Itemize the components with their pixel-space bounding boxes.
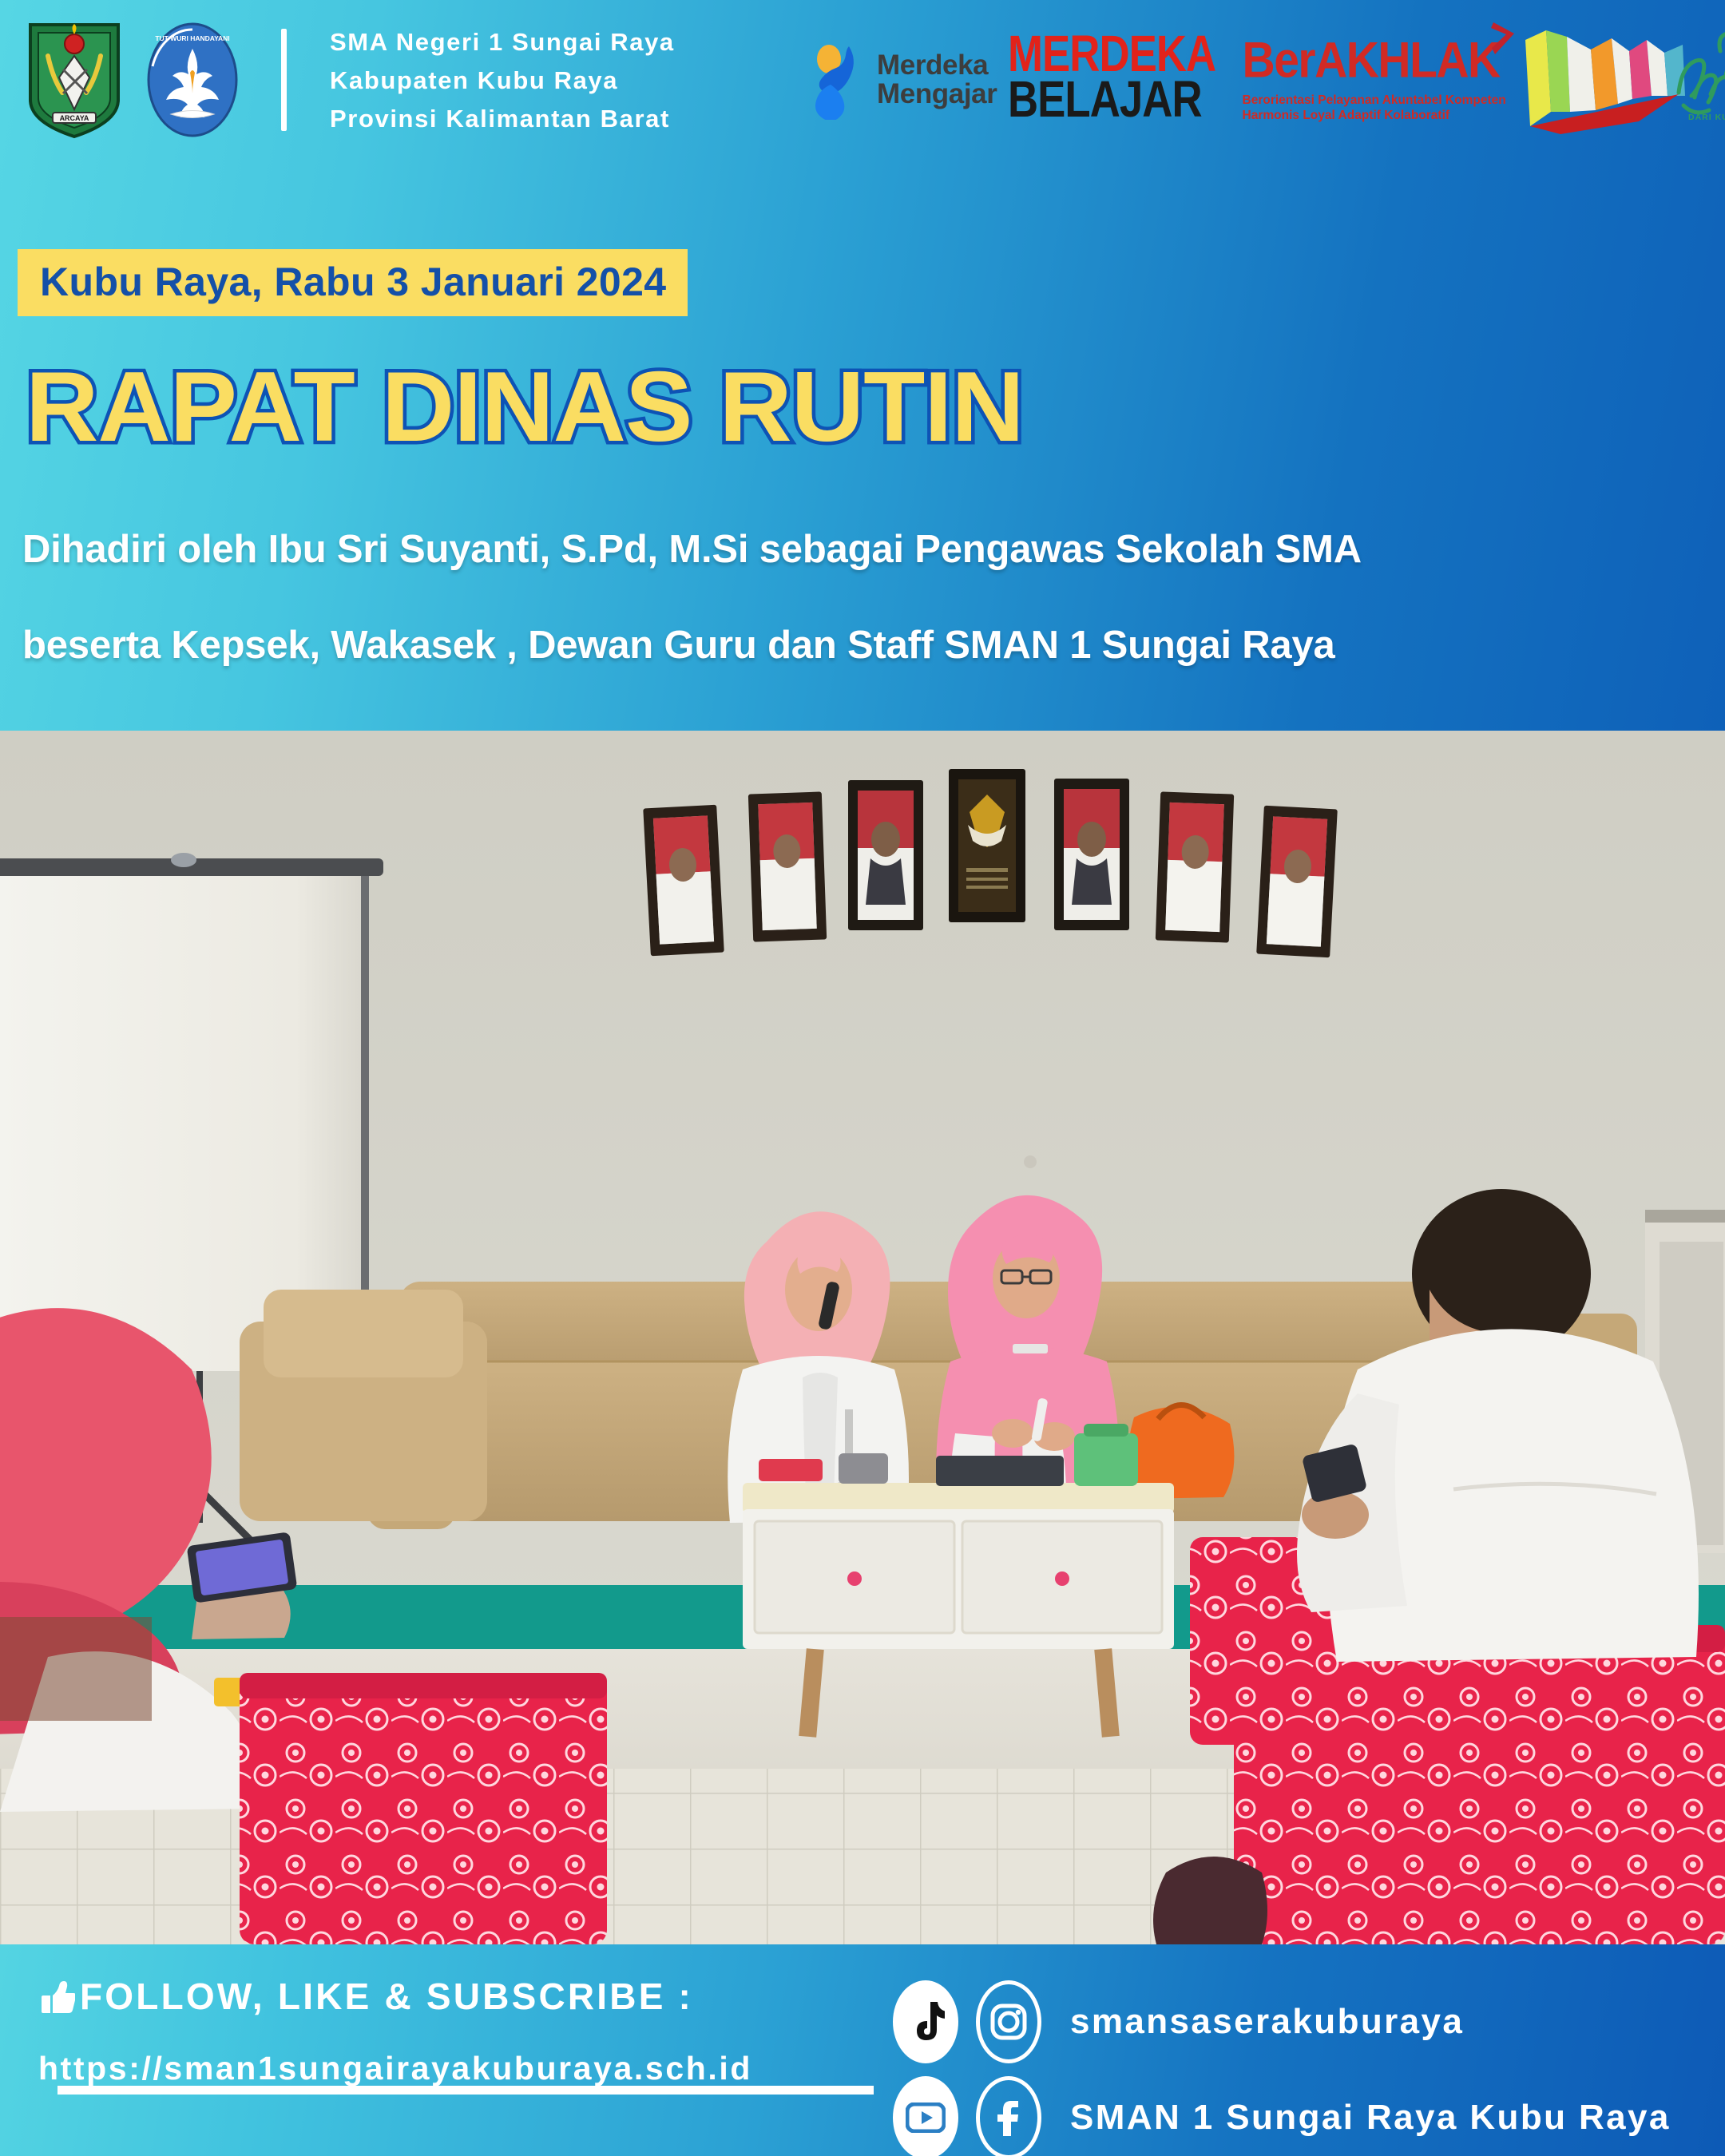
tiktok-icon	[906, 2000, 945, 2043]
crest-row: ARCAYA TUT WURI HANDAYANI SMA Negeri 1 S…	[0, 20, 675, 140]
subtitle-line-1: Dihadiri oleh Ibu Sri Suyanti, S.Pd, M.S…	[22, 527, 1362, 572]
tutwuri-motto-text: TUT WURI HANDAYANI	[155, 34, 229, 42]
subtitle-line-2: beserta Kepsek, Wakasek , Dewan Guru dan…	[22, 623, 1335, 668]
event-photo	[0, 731, 1725, 1944]
menanjak-mark-icon: DARI KUBU RAYA UNTUK INDONESIA	[1519, 16, 1725, 144]
program-logo-strip: Merdeka Mengajar MERDEKA BELAJAR BerAKHL…	[807, 0, 1725, 160]
berakhlak-wordmark: BerAKHLAK	[1243, 37, 1500, 89]
youtube-icon	[906, 2102, 946, 2133]
berakhlak-sub-line1: Berorientasi Pelayanan Akuntabel Kompete…	[1243, 93, 1506, 109]
merdeka-mengajar-icon	[807, 40, 869, 120]
merdeka-mengajar-line2: Mengajar	[877, 80, 997, 109]
crest-motto-text: ARCAYA	[60, 114, 89, 122]
school-line-3: Provinsi Kalimantan Barat	[330, 106, 675, 131]
poster-root: ARCAYA TUT WURI HANDAYANI SMA Negeri 1 S…	[0, 0, 1725, 2156]
social-row-2: SMAN 1 Sungai Raya Kubu Raya	[893, 2076, 1671, 2156]
merdeka-belajar-logo: MERDEKA BELAJAR	[1008, 38, 1224, 122]
footer-left-block: FOLLOW, LIKE & SUBSCRIBE : https://sman1…	[38, 1975, 752, 2087]
background-armchair	[240, 1290, 487, 1521]
berakhlak-logo: BerAKHLAK Berorientasi Pelayanan Akuntab…	[1243, 37, 1506, 124]
berakhlak-sub-line2: Harmonis Loyal Adaptif Kolaboratif	[1243, 109, 1506, 124]
social-handle-1: smansaserakuburaya	[1070, 2002, 1464, 2042]
lambang-kabupaten-kubu-raya-icon: ARCAYA	[24, 20, 125, 140]
menanjak-logo: DARI KUBU RAYA UNTUK INDONESIA	[1519, 16, 1725, 144]
header-divider	[281, 29, 287, 131]
menanjak-tagline: DARI KUBU RAYA UNTUK INDONESIA	[1688, 113, 1725, 122]
school-line-2: Kabupaten Kubu Raya	[330, 68, 675, 93]
website-url[interactable]: https://sman1sungairayakuburaya.sch.id	[38, 2050, 752, 2087]
follow-row: FOLLOW, LIKE & SUBSCRIBE :	[38, 1975, 752, 2018]
social-columns: smansaserakuburaya SMAN 1 Sungai Raya Ku…	[893, 1980, 1671, 2156]
instagram-icon	[990, 2003, 1027, 2040]
berakhlak-prefix: Ber	[1243, 31, 1315, 89]
logo-tut-wuri-handayani-icon: TUT WURI HANDAYANI	[142, 20, 243, 140]
batik-chair-left	[240, 1673, 607, 1944]
page-title: RAPAT DINAS RUTIN	[26, 358, 1024, 457]
school-line-1: SMA Negeri 1 Sungai Raya	[330, 30, 675, 54]
berakhlak-check-icon	[1490, 21, 1517, 57]
tiktok-badge[interactable]	[893, 1980, 958, 2063]
youtube-badge[interactable]	[893, 2076, 958, 2156]
date-chip-text: Kubu Raya, Rabu 3 Januari 2024	[40, 262, 667, 302]
event-photo-scene	[0, 731, 1725, 1944]
facebook-icon	[990, 2099, 1027, 2136]
berakhlak-subtitle: Berorientasi Pelayanan Akuntabel Kompete…	[1243, 93, 1506, 124]
school-identity-lines: SMA Negeri 1 Sungai Raya Kabupaten Kubu …	[330, 30, 675, 131]
date-chip: Kubu Raya, Rabu 3 Januari 2024	[18, 249, 688, 316]
instagram-badge[interactable]	[976, 1980, 1041, 2063]
facebook-badge[interactable]	[976, 2076, 1041, 2156]
poster-footer: FOLLOW, LIKE & SUBSCRIBE : https://sman1…	[0, 1944, 1725, 2156]
footer-underline	[57, 2086, 874, 2095]
poster-header: ARCAYA TUT WURI HANDAYANI SMA Negeri 1 S…	[0, 0, 1725, 160]
follow-text: FOLLOW, LIKE & SUBSCRIBE :	[80, 1975, 693, 2018]
merdeka-mengajar-line1: Merdeka	[877, 51, 997, 80]
merdeka-mengajar-logo: Merdeka Mengajar	[807, 40, 997, 120]
thumbs-up-icon	[38, 1980, 75, 2016]
social-handle-2: SMAN 1 Sungai Raya Kubu Raya	[1070, 2098, 1671, 2138]
social-row-1: smansaserakuburaya	[893, 1980, 1671, 2063]
berakhlak-caps: AKHLAK	[1315, 31, 1500, 89]
merdeka-belajar-line2: BELAJAR	[1008, 77, 1202, 122]
